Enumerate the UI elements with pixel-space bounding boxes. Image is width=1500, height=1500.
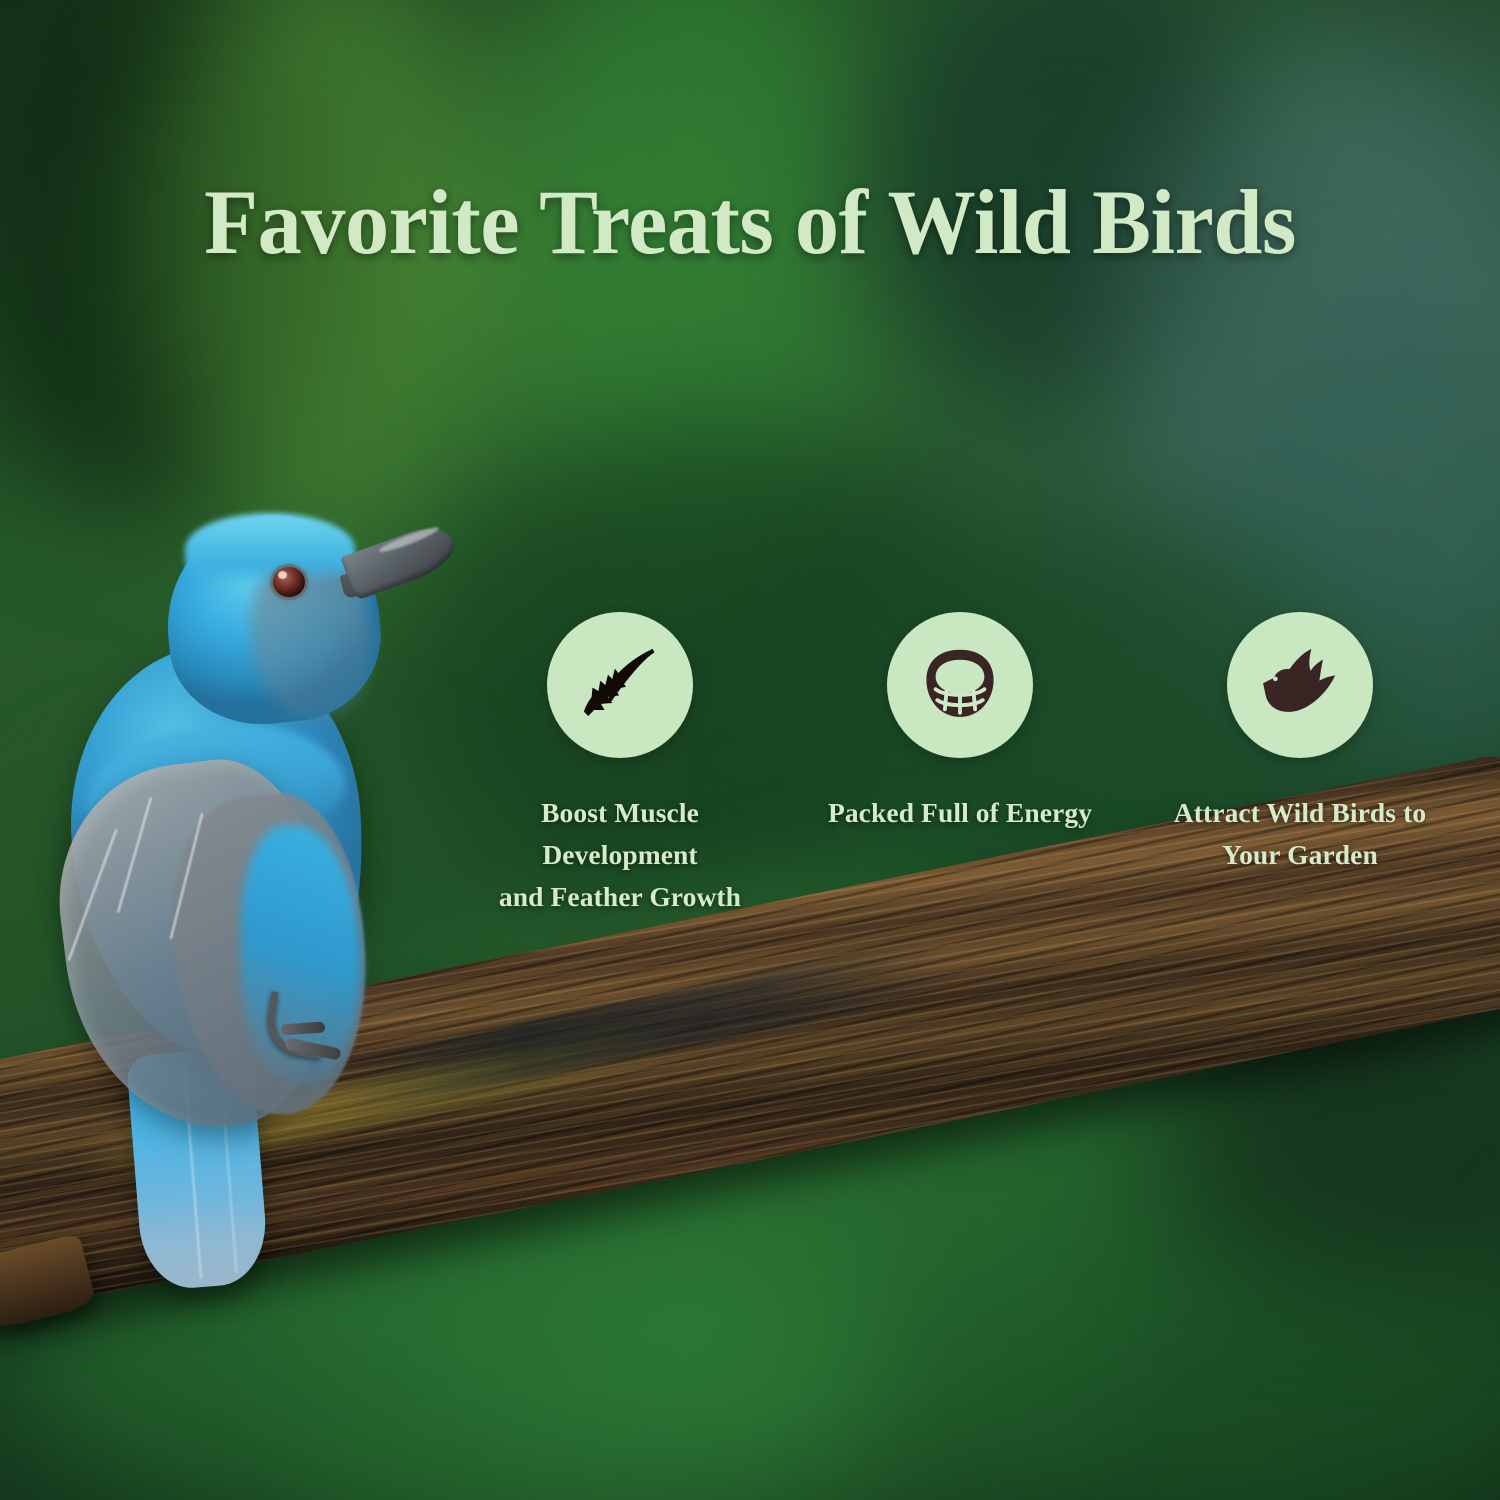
feather-icon (577, 642, 663, 728)
feature-item-energy: Packed Full of Energy (810, 612, 1110, 834)
feature-list: Boost Muscle Development and Feather Gro… (470, 612, 1450, 942)
bird-eye (273, 567, 305, 597)
bird-beak (341, 519, 462, 601)
feature-label: Packed Full of Energy (810, 792, 1110, 834)
feature-label: Boost Muscle Development and Feather Gro… (485, 792, 755, 917)
page-title: Favorite Treats of Wild Birds (30, 176, 1470, 268)
bird-eye-glint (278, 571, 287, 579)
feature-item-attract-birds: Attract Wild Birds to Your Garden (1150, 612, 1450, 876)
product-banner: Favorite Treats of Wild Birds Boost Musc… (0, 0, 1500, 1500)
feature-icon-circle (1227, 612, 1373, 758)
dove-bird-icon (1256, 641, 1344, 729)
feature-icon-circle (887, 612, 1033, 758)
branch-stub (0, 1233, 97, 1341)
bird-crown-highlight (185, 513, 355, 585)
feature-label: Attract Wild Birds to Your Garden (1160, 792, 1440, 876)
feature-icon-circle (547, 612, 693, 758)
feature-item-muscle-development: Boost Muscle Development and Feather Gro… (470, 612, 770, 917)
suet-feeder-icon (918, 643, 1002, 727)
bluebird-photo (55, 495, 475, 1215)
